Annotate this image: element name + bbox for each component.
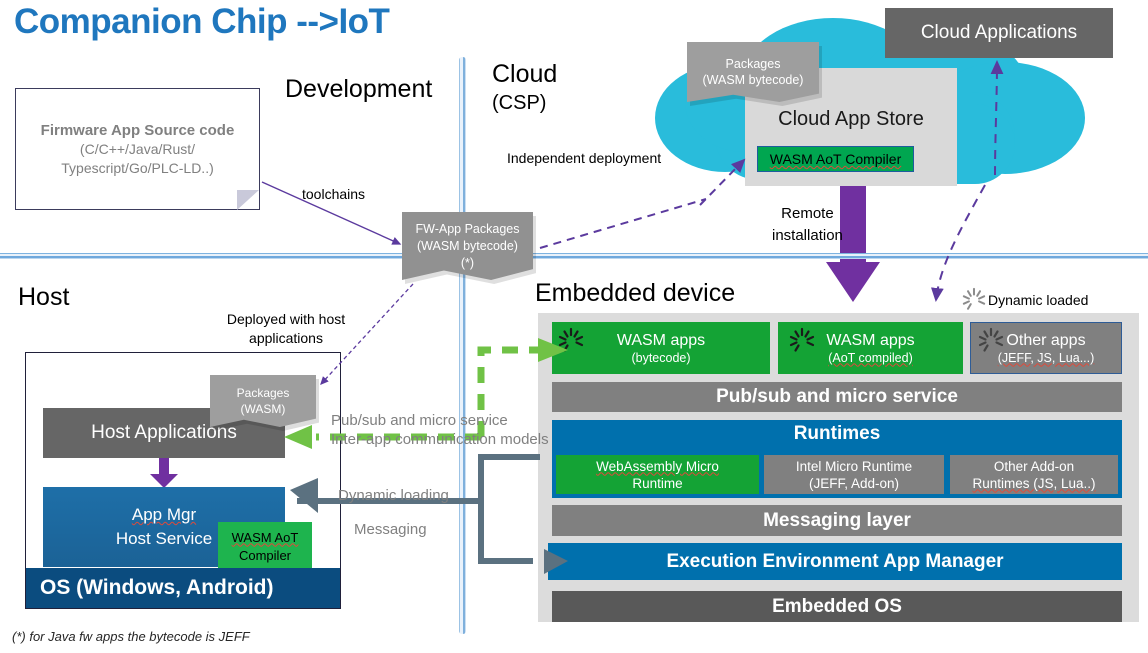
wasm1-line1: WASM apps (617, 331, 705, 350)
heading-cloud: Cloud (492, 60, 557, 89)
embedded-pubsub-label: Pub/sub and micro service (716, 386, 958, 408)
firmware-line2: Typescript/Go/PLC-LD..) (61, 159, 214, 178)
host-wasm-aot-compiler-box[interactable]: WASM AoT Compiler (218, 522, 312, 571)
dynamic-loaded-burst-icon (558, 328, 584, 354)
rt1-line2: Runtime (596, 475, 719, 492)
host-os-box[interactable]: OS (Windows, Android) (26, 568, 340, 608)
rt3-line2: Runtimes (JS, Lua..) (972, 475, 1095, 492)
label-independent-deployment: Independent deployment (507, 150, 661, 166)
heading-host: Host (18, 283, 69, 312)
embedded-app-manager-label: Execution Environment App Manager (666, 551, 1003, 573)
label-remote-line1: Remote (772, 203, 843, 225)
label-deployed-line2: applications (220, 329, 352, 348)
cloud-wasm-aot-compiler-label: WASM AoT Compiler (770, 151, 901, 167)
embedded-app-manager-box[interactable]: Execution Environment App Manager (548, 543, 1122, 580)
cloud-applications-label: Cloud Applications (921, 22, 1077, 44)
firmware-line1: (C/C++/Java/Rust/ (80, 140, 195, 159)
label-remote-installation: Remote installation (772, 203, 843, 247)
label-inter-app: Inter-app communication models (331, 430, 549, 449)
rt2-line2: (JEFF, Add-on) (796, 475, 912, 492)
fw-packages-line3: (*) (461, 255, 474, 272)
host-packages-callout: Packages (WASM) (210, 375, 316, 427)
cloud-packages-callout: Packages (WASM bytecode) (687, 42, 819, 102)
embedded-runtime-wamr-box[interactable]: WebAssembly Micro Runtime (556, 455, 759, 494)
label-deployed-line1: Deployed with host (220, 310, 352, 329)
heading-embedded-device: Embedded device (535, 279, 735, 308)
label-messaging: Messaging (354, 521, 427, 538)
host-aot-line2: Compiler (239, 547, 291, 565)
host-packages-line1: Packages (237, 385, 290, 401)
vertical-divider (459, 57, 466, 634)
embedded-runtime-intel-box[interactable]: Intel Micro Runtime (JEFF, Add-on) (764, 455, 944, 494)
embedded-runtime-other-box[interactable]: Other Add-on Runtimes (JS, Lua..) (950, 455, 1118, 494)
embedded-os-box[interactable]: Embedded OS (552, 591, 1122, 622)
messaging-connector (481, 502, 533, 561)
firmware-fold-corner (237, 190, 259, 210)
page-title: Companion Chip -->IoT (14, 2, 389, 42)
embedded-messaging-layer-label: Messaging layer (763, 510, 911, 532)
embedded-wasm-apps-bytecode-box[interactable]: WASM apps (bytecode) (552, 322, 770, 374)
horizontal-divider (0, 253, 1148, 259)
cloud-packages-line2: (WASM bytecode) (703, 72, 804, 88)
footnote: (*) for Java fw apps the bytecode is JEF… (12, 629, 250, 644)
label-dynamic-loaded: Dynamic loaded (988, 292, 1088, 308)
embedded-os-label: Embedded OS (772, 596, 902, 618)
embedded-runtimes-title: Runtimes (552, 423, 1122, 445)
fw-packages-line2: (WASM bytecode) (417, 238, 518, 255)
app-mgr-line2: Host Service (116, 527, 212, 551)
label-pubsub-interapp: Pub/sub and micro service Inter-app comm… (331, 411, 549, 449)
cloud-to-device-dynamic-connector (936, 185, 985, 300)
embedded-pubsub-box[interactable]: Pub/sub and micro service (552, 382, 1122, 412)
embedded-messaging-layer-box[interactable]: Messaging layer (552, 505, 1122, 536)
label-pubsub-micro: Pub/sub and micro service (331, 411, 549, 430)
label-dynamic-loading: Dynamic loading (338, 487, 449, 504)
dynamic-loaded-burst-icon (789, 328, 815, 354)
other-apps-line2: (JEFF, JS, Lua...) (998, 350, 1095, 366)
dynamic-loaded-legend-icon (962, 288, 986, 312)
fw-app-packages-callout: FW-App Packages (WASM bytecode) (*) (402, 212, 533, 280)
heading-development: Development (285, 75, 432, 104)
wasm1-line2: (bytecode) (617, 350, 705, 366)
label-toolchains: toolchains (302, 186, 365, 202)
wasm2-line1: WASM apps (826, 331, 914, 350)
host-packages-line2: (WASM) (241, 401, 286, 417)
firmware-source-box[interactable]: Firmware App Source code (C/C++/Java/Rus… (15, 88, 260, 210)
cloud-applications-box[interactable]: Cloud Applications (885, 8, 1113, 58)
host-os-label: OS (Windows, Android) (40, 576, 274, 600)
independent-deployment-connector-tail (540, 199, 706, 248)
rt3-line1: Other Add-on (972, 458, 1095, 475)
cloud-packages-line1: Packages (726, 56, 781, 72)
rt1-line1: WebAssembly Micro (596, 458, 719, 475)
wasm2-line2: (AoT compiled) (826, 350, 914, 366)
other-apps-line1: Other apps (998, 331, 1095, 350)
label-remote-line2: installation (772, 225, 843, 247)
rt2-line1: Intel Micro Runtime (796, 458, 912, 475)
firmware-heading: Firmware App Source code (41, 121, 235, 140)
host-aot-line1: WASM AoT (232, 529, 299, 547)
app-mgr-line1: App Mgr (132, 503, 196, 527)
label-deployed-with-host: Deployed with host applications (220, 310, 352, 348)
host-purple-arrow (150, 458, 178, 488)
heading-cloud-csp: (CSP) (492, 92, 546, 115)
cloud-wasm-aot-compiler-box[interactable]: WASM AoT Compiler (757, 146, 914, 172)
dynamic-loaded-burst-icon (978, 328, 1004, 354)
fw-packages-line1: FW-App Packages (416, 221, 520, 238)
cloud-app-store-title: Cloud App Store (745, 108, 957, 131)
